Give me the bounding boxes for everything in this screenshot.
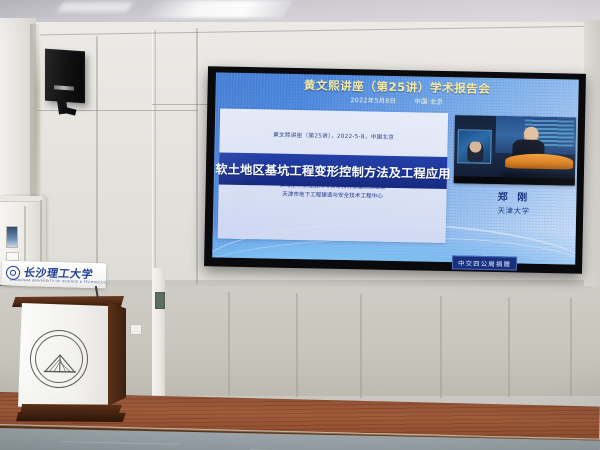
- lower-wall-seam: [570, 298, 572, 396]
- wall-pillar-strip: [152, 268, 165, 396]
- sponsor-watermark-text: 中交四公局捐赠: [458, 258, 511, 268]
- slide-title: 软土地区基坑工程变形控制方法及工程应用: [215, 159, 451, 182]
- slide-content-card: 黄文熙讲座（第25讲），2022-5-8，中国北京 软土地区基坑工程变形控制方法…: [218, 108, 449, 243]
- podium-plinth: [16, 412, 126, 422]
- ceiling-light-strip: [143, 0, 293, 18]
- sponsor-watermark: 中交四公局捐赠: [452, 255, 517, 270]
- lecture-hall-scene: 长沙理工大学 CHANGSHA UNIVERSITY OF SCIENCE & …: [0, 0, 600, 450]
- led-display-screen[interactable]: 黄文熙讲座（第25讲）学术报告会 2022年5月8日 中国·北京 黄文熙讲座（第…: [212, 72, 579, 264]
- lower-wall-seam: [360, 294, 362, 398]
- carpet-seam: [60, 441, 180, 445]
- event-header: 黄文熙讲座（第25讲）学术报告会 2022年5月8日 中国·北京: [215, 72, 579, 113]
- wall-horizontal-seam: [152, 104, 208, 105]
- wall-speaker: [45, 49, 85, 104]
- slide-eyebrow-text: 黄文熙讲座（第25讲），2022-5-8，中国北京: [220, 129, 448, 142]
- video-picture-in-picture[interactable]: [457, 129, 492, 164]
- slide-title-bar: 软土地区基坑工程变形控制方法及工程应用: [219, 152, 448, 189]
- air-conditioner-top: [0, 196, 42, 202]
- lower-wall-seam: [296, 293, 298, 397]
- event-location: 中国·北京: [415, 98, 444, 106]
- wall-panel-seam: [96, 36, 98, 286]
- speaker-grille: [47, 51, 83, 102]
- bridge-glyph-icon: [43, 353, 77, 374]
- pip-participant: [467, 141, 483, 161]
- wall-panel-seam: [196, 28, 198, 284]
- lower-wall-seam: [228, 292, 230, 396]
- university-wall-sign: 长沙理工大学 CHANGSHA UNIVERSITY OF SCIENCE & …: [2, 261, 107, 289]
- ceiling-light-reflection: [57, 2, 133, 12]
- video-caption-name: 郑 刚: [453, 187, 574, 204]
- speaker-video-feed[interactable]: [454, 115, 576, 185]
- lower-wall-seam: [440, 296, 442, 398]
- video-caption: 郑 刚 天津大学: [453, 187, 575, 217]
- wall-power-outlet: [130, 324, 142, 335]
- led-display-bezel: 黄文熙讲座（第25讲）学术报告会 2022年5月8日 中国·北京 黄文熙讲座（第…: [204, 66, 586, 274]
- air-conditioner-display-panel[interactable]: [6, 226, 18, 248]
- air-conditioner-label: [6, 252, 19, 261]
- lower-wall-seam: [508, 297, 510, 397]
- podium-side-panel: [108, 300, 126, 406]
- right-wall-strip: [584, 20, 600, 290]
- wall-panel-seam: [152, 30, 156, 280]
- event-date: 2022年5月8日: [350, 97, 396, 105]
- video-letterbox-bar: [454, 176, 575, 185]
- wall-service-plate: [155, 292, 165, 309]
